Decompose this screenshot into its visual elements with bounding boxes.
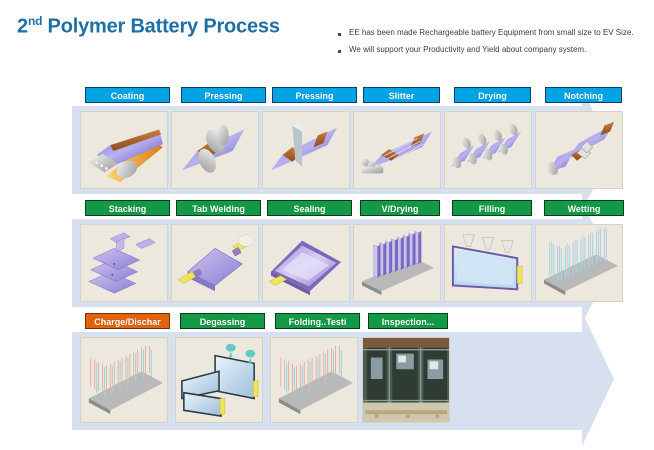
step-image-degassing[interactable] <box>175 337 263 423</box>
step-label-folding-testing[interactable]: Folding..Testi <box>275 313 360 329</box>
step-label-inspection[interactable]: Inspection... <box>368 313 448 329</box>
title-rest: Polymer Battery Process <box>42 16 280 38</box>
step-label-coating[interactable]: Coating <box>85 87 170 103</box>
page-title: 2nd Polymer Battery Process <box>17 14 280 39</box>
step-image-slitter[interactable] <box>353 111 441 189</box>
bullet-dot-icon <box>338 50 341 53</box>
sealing-icon <box>263 225 349 301</box>
pressing-knife-icon <box>263 112 349 188</box>
degassing-icon <box>176 338 262 422</box>
arrow-head-icon <box>582 312 614 446</box>
bullet-item: We will support your Productivity and Yi… <box>338 44 648 56</box>
step-image-filling[interactable] <box>444 224 532 302</box>
tab-welding-icon <box>172 225 258 301</box>
bullet-list: EE has been made Rechargeable battery Eq… <box>338 27 648 61</box>
notching-icon <box>536 112 622 188</box>
step-label-wetting[interactable]: Wetting <box>544 200 624 216</box>
step-label-v-drying[interactable]: V/Drying <box>360 200 440 216</box>
folding-testing-icon <box>271 338 357 422</box>
process-row-electrode: Coating Pressing Pressing Slitter Drying… <box>0 84 654 196</box>
step-image-stacking[interactable] <box>80 224 168 302</box>
v-drying-icon <box>354 225 440 301</box>
step-image-v-drying[interactable] <box>353 224 441 302</box>
step-label-stacking[interactable]: Stacking <box>85 200 170 216</box>
step-label-drying[interactable]: Drying <box>454 87 531 103</box>
stacking-icon <box>81 225 167 301</box>
step-label-charge-discharge[interactable]: Charge/Dischar <box>85 313 170 329</box>
step-label-notching[interactable]: Notching <box>545 87 622 103</box>
bullet-text: EE has been made Rechargeable battery Eq… <box>349 27 634 39</box>
wetting-icon <box>536 225 622 301</box>
step-label-slitter[interactable]: Slitter <box>363 87 440 103</box>
step-image-folding-testing[interactable] <box>270 337 358 423</box>
drying-icon <box>445 112 531 188</box>
step-image-notching[interactable] <box>535 111 623 189</box>
step-image-pressing-1[interactable] <box>171 111 259 189</box>
inspection-photo-icon <box>363 338 449 422</box>
slitter-icon <box>354 112 440 188</box>
process-row-formation: Charge/Dischar Degassing Folding..Testi … <box>0 310 654 432</box>
filling-icon <box>445 225 531 301</box>
title-ordinal-suffix: nd <box>28 14 42 28</box>
step-image-tab-welding[interactable] <box>171 224 259 302</box>
header: 2nd Polymer Battery Process EE has been … <box>0 0 654 78</box>
step-image-coating[interactable] <box>80 111 168 189</box>
step-label-degassing[interactable]: Degassing <box>180 313 265 329</box>
bullet-item: EE has been made Rechargeable battery Eq… <box>338 27 648 39</box>
step-label-sealing[interactable]: Sealing <box>267 200 352 216</box>
step-label-filling[interactable]: Filling <box>452 200 532 216</box>
step-image-drying[interactable] <box>444 111 532 189</box>
charge-discharge-icon <box>81 338 167 422</box>
step-image-sealing[interactable] <box>262 224 350 302</box>
step-image-pressing-2[interactable] <box>262 111 350 189</box>
process-row-assembly: Stacking Tab Welding Sealing V/Drying Fi… <box>0 197 654 309</box>
step-image-inspection[interactable] <box>362 337 450 423</box>
step-image-charge-discharge[interactable] <box>80 337 168 423</box>
step-label-tab-welding[interactable]: Tab Welding <box>176 200 261 216</box>
step-label-pressing-2[interactable]: Pressing <box>272 87 357 103</box>
step-label-pressing-1[interactable]: Pressing <box>181 87 266 103</box>
bullet-text: We will support your Productivity and Yi… <box>349 44 586 56</box>
coating-icon <box>81 112 167 188</box>
title-ordinal-number: 2 <box>17 16 28 38</box>
pressing-roll-icon <box>172 112 258 188</box>
step-image-wetting[interactable] <box>535 224 623 302</box>
bullet-dot-icon <box>338 33 341 36</box>
